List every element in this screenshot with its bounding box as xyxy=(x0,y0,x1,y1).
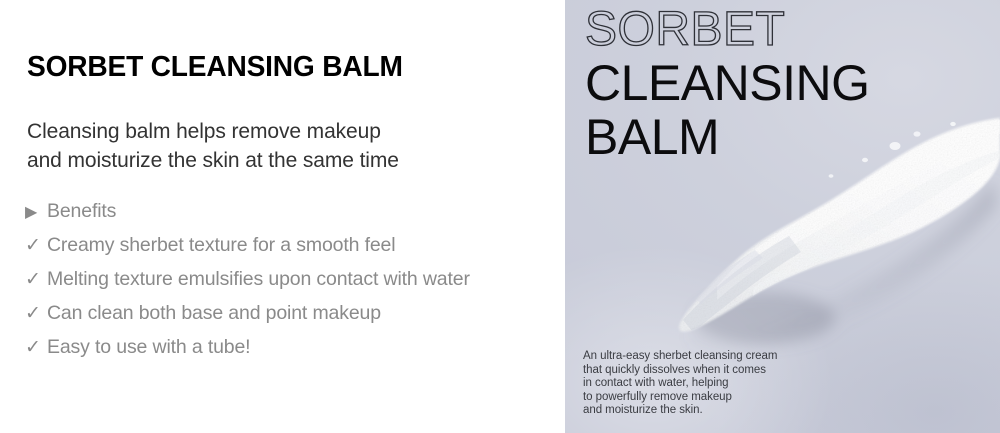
caption-line-4: to powerfully remove makeup xyxy=(583,391,777,405)
list-item-label: Creamy sherbet texture for a smooth feel xyxy=(47,234,395,257)
list-item: ▶ Benefits xyxy=(25,200,555,234)
check-bullet-icon: ✓ xyxy=(25,338,47,357)
page-title: SORBET CLEANSING BALM xyxy=(27,51,403,84)
photo-headline: SORBET CLEANSING BALM xyxy=(585,4,869,164)
list-item: ✓ Can clean both base and point makeup xyxy=(25,302,555,336)
list-item: ✓ Easy to use with a tube! xyxy=(25,336,555,370)
caption-line-2: that quickly dissolves when it comes xyxy=(583,364,777,378)
check-bullet-icon: ✓ xyxy=(25,270,47,289)
product-subtitle: Cleansing balm helps remove makeup and m… xyxy=(27,117,399,175)
photo-caption: An ultra-easy sherbet cleansing cream th… xyxy=(583,350,777,418)
list-item: ✓ Melting texture emulsifies upon contac… xyxy=(25,268,555,302)
check-bullet-icon: ✓ xyxy=(25,236,47,255)
list-item-label: Benefits xyxy=(47,200,116,223)
caption-line-5: and moisturize the skin. xyxy=(583,404,777,418)
subtitle-line-1: Cleansing balm helps remove makeup xyxy=(27,117,399,146)
headline-sorbet-outlined: SORBET xyxy=(585,4,869,56)
headline-cleansing: CLEANSING xyxy=(585,56,869,110)
promo-banner: SORBET CLEANSING BALM Cleansing balm hel… xyxy=(0,0,1000,433)
benefits-list: ▶ Benefits ✓ Creamy sherbet texture for … xyxy=(25,200,555,370)
check-bullet-icon: ✓ xyxy=(25,304,47,323)
triangle-bullet-icon: ▶ xyxy=(25,205,47,221)
headline-balm: BALM xyxy=(585,110,869,164)
list-item-label: Melting texture emulsifies upon contact … xyxy=(47,268,470,291)
list-item-label: Easy to use with a tube! xyxy=(47,336,250,359)
list-item: ✓ Creamy sherbet texture for a smooth fe… xyxy=(25,234,555,268)
product-photo-panel: SORBET CLEANSING BALM An ultra-easy sher… xyxy=(565,0,1000,433)
left-text-panel: SORBET CLEANSING BALM Cleansing balm hel… xyxy=(0,0,565,433)
caption-line-3: in contact with water, helping xyxy=(583,377,777,391)
list-item-label: Can clean both base and point makeup xyxy=(47,302,381,325)
caption-line-1: An ultra-easy sherbet cleansing cream xyxy=(583,350,777,364)
subtitle-line-2: and moisturize the skin at the same time xyxy=(27,146,399,175)
